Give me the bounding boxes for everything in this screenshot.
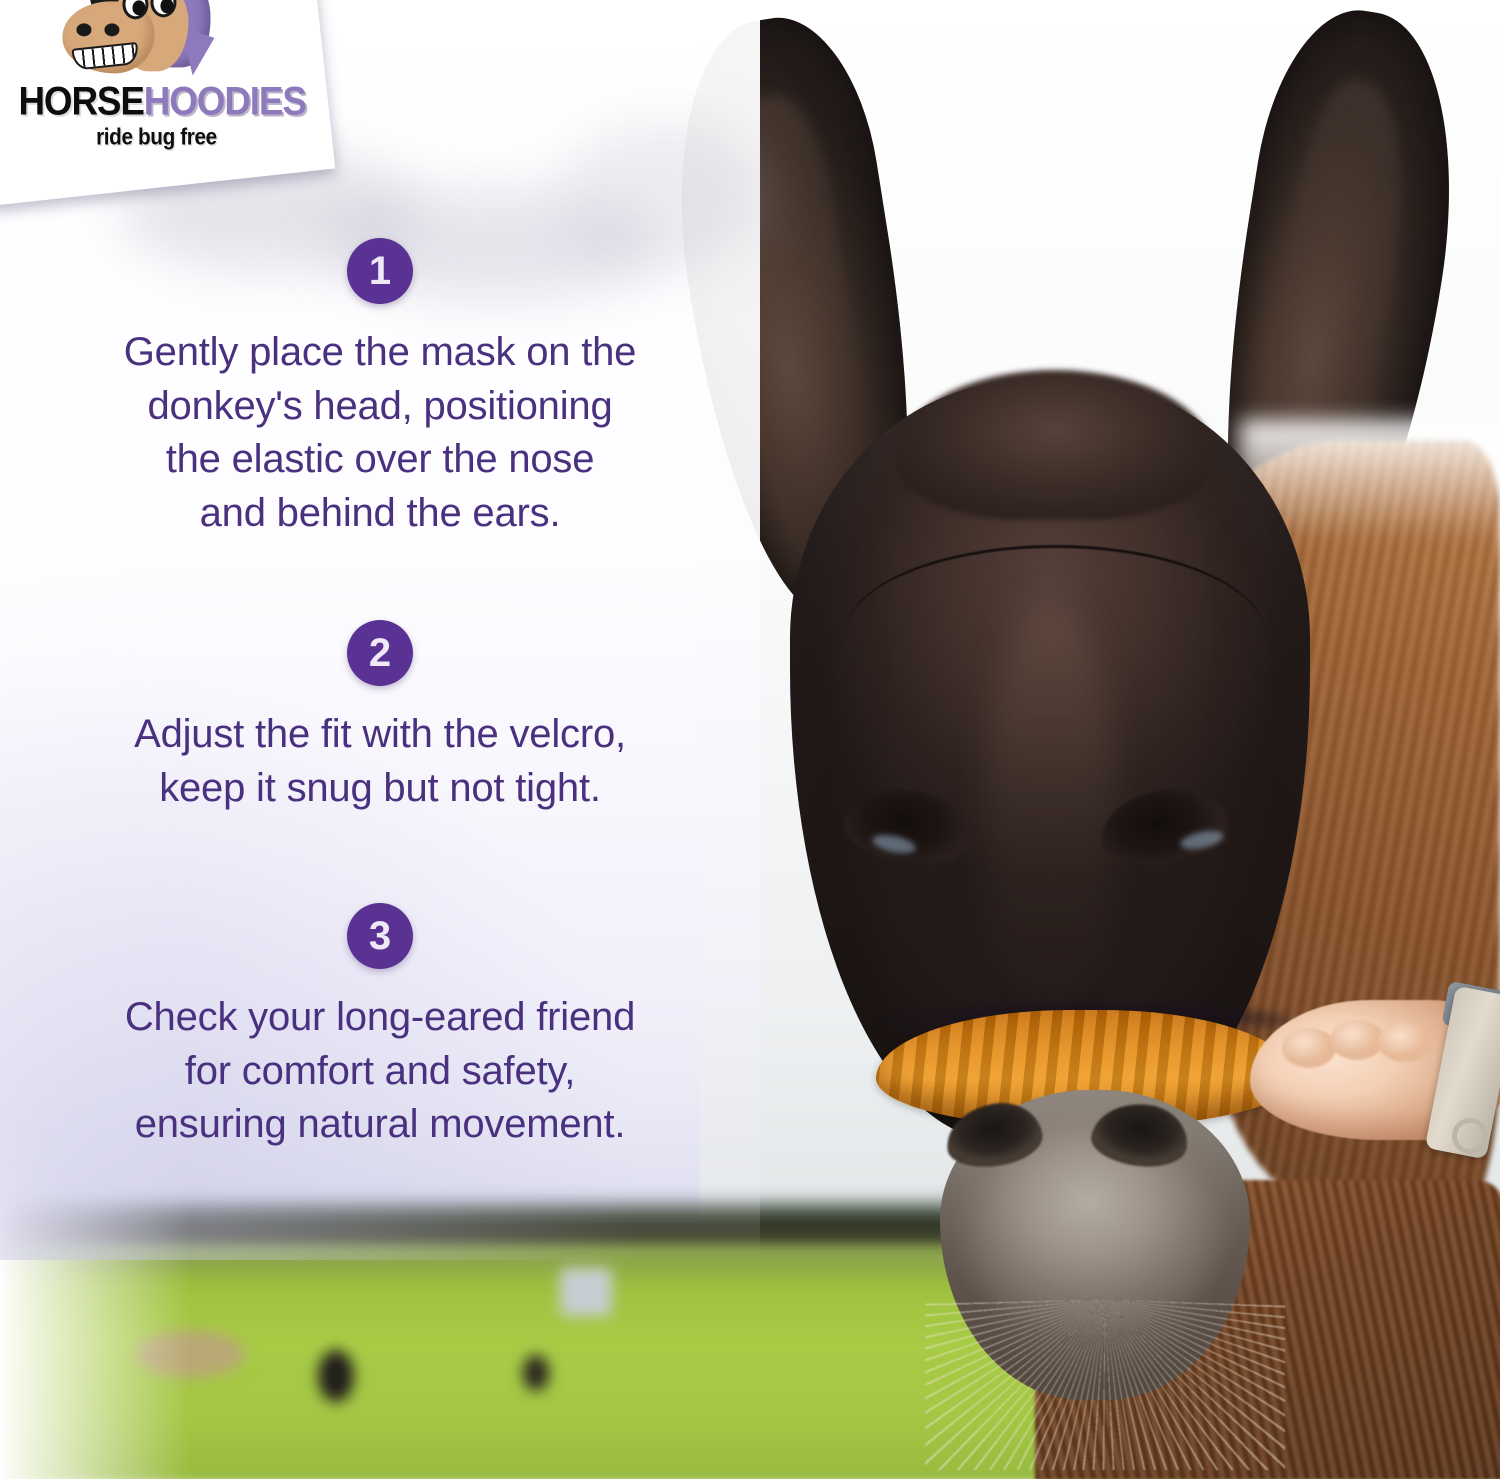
donkey-whiskers	[925, 1300, 1285, 1470]
infographic-canvas: HORSEHOODIES ride bug free 1 Gently plac…	[0, 0, 1500, 1479]
step-1: 1 Gently place the mask on the donkey's …	[0, 238, 760, 540]
step-3: 3 Check your long-eared friend for comfo…	[0, 903, 760, 1152]
field-object-structure	[560, 1268, 612, 1316]
nose-bridge-highlight	[985, 600, 1115, 1020]
field-object-animal-1	[318, 1350, 354, 1402]
cartoon-horse-mascot-icon	[62, 0, 212, 77]
field-object-animal-2	[523, 1355, 549, 1391]
brand-logo-inner: HORSEHOODIES ride bug free	[6, 11, 306, 181]
mascot-nostril-left	[76, 23, 91, 36]
hand-knuckle-2	[1330, 1020, 1384, 1060]
brand-logo-card[interactable]: HORSEHOODIES ride bug free	[0, 0, 335, 206]
wordmark-horse: HORSE	[18, 79, 143, 123]
hand-knuckle-3	[1378, 1022, 1432, 1062]
brand-wordmark: HORSEHOODIES	[18, 81, 294, 121]
step-2-number-badge: 2	[347, 620, 413, 686]
step-1-text: Gently place the mask on the donkey's he…	[0, 326, 760, 540]
step-3-number-badge: 3	[347, 903, 413, 969]
step-1-number-badge: 1	[347, 238, 413, 304]
donkey-photo	[640, 0, 1500, 1479]
step-2: 2 Adjust the fit with the velcro, keep i…	[0, 620, 760, 815]
donkey-forelock	[895, 370, 1215, 520]
wordmark-hoodies: HOODIES	[144, 79, 306, 123]
field-object-haybale	[135, 1330, 245, 1378]
mascot-nostril-right	[104, 23, 119, 36]
brand-tagline: ride bug free	[21, 123, 291, 150]
step-2-text: Adjust the fit with the velcro, keep it …	[0, 708, 760, 815]
hand-knuckle-1	[1282, 1028, 1336, 1068]
step-3-text: Check your long-eared friend for comfort…	[0, 991, 760, 1152]
